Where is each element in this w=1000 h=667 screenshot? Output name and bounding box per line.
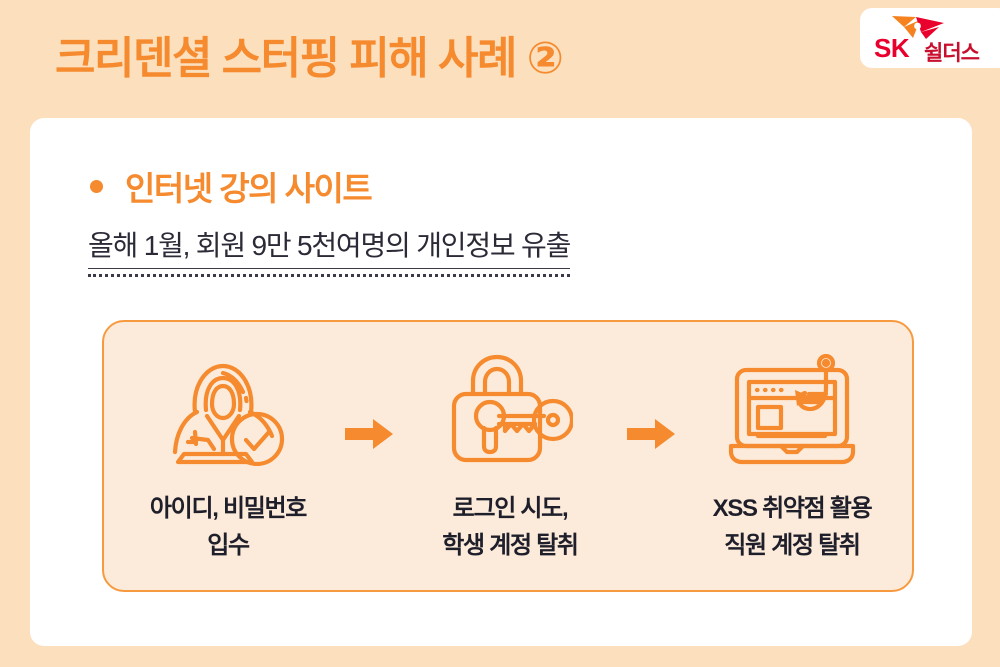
- arrow-right-icon: [332, 419, 406, 449]
- flow-step-credential-acquisition: 아이디, 비밀번호 입수: [124, 352, 332, 564]
- flow-caption-line-2: 직원 계정 탈취: [713, 527, 872, 564]
- content-card: 인터넷 강의 사이트 올해 1월, 회원 9만 5천여명의 개인정보 유출: [30, 118, 972, 646]
- flow-caption-line-2: 입수: [150, 527, 306, 564]
- brand-logo: SK 쉴더스: [860, 8, 1000, 68]
- hacker-hoodie-laptop-check-icon: [162, 352, 294, 468]
- laptop-phishing-hook-icon: [725, 352, 859, 468]
- flow-caption-line-1: 아이디, 비밀번호: [150, 490, 306, 527]
- slide-canvas: 크리덴셜 스터핑 피해 사례 ② SK 쉴더스 인터넷 강의 사이트 올해 1월…: [0, 0, 1000, 667]
- section-subtitle: 올해 1월, 회원 9만 5천여명의 개인정보 유출: [88, 224, 570, 269]
- section-heading: 인터넷 강의 사이트: [90, 162, 371, 210]
- flow-caption-line-1: 로그인 시도,: [442, 490, 577, 527]
- attack-flow-row: 아이디, 비밀번호 입수: [104, 322, 916, 594]
- brand-sk-text: SK: [874, 33, 909, 64]
- flow-step-caption: 로그인 시도, 학생 계정 탈취: [442, 490, 577, 564]
- section-heading-label: 인터넷 강의 사이트: [125, 162, 371, 210]
- flow-step-login-attempt: 로그인 시도, 학생 계정 탈취: [406, 352, 614, 564]
- padlock-key-icon: [447, 352, 573, 468]
- flow-step-caption: 아이디, 비밀번호 입수: [150, 490, 306, 564]
- attack-flow-panel: 아이디, 비밀번호 입수: [102, 320, 914, 592]
- flow-step-caption: XSS 취약점 활용 직원 계정 탈취: [713, 490, 872, 564]
- arrow-right-icon: [614, 419, 688, 449]
- page-title: 크리덴셜 스터핑 피해 사례 ②: [55, 22, 562, 86]
- flow-step-xss-exploit: XSS 취약점 활용 직원 계정 탈취: [688, 352, 896, 564]
- bullet-dot-icon: [90, 180, 103, 193]
- flow-caption-line-2: 학생 계정 탈취: [442, 527, 577, 564]
- flow-caption-line-1: XSS 취약점 활용: [713, 490, 872, 527]
- subtitle-dotted-rule: [88, 273, 570, 277]
- brand-name-text: 쉴더스: [924, 37, 979, 67]
- section-subtitle-block: 올해 1월, 회원 9만 5천여명의 개인정보 유출: [88, 224, 570, 277]
